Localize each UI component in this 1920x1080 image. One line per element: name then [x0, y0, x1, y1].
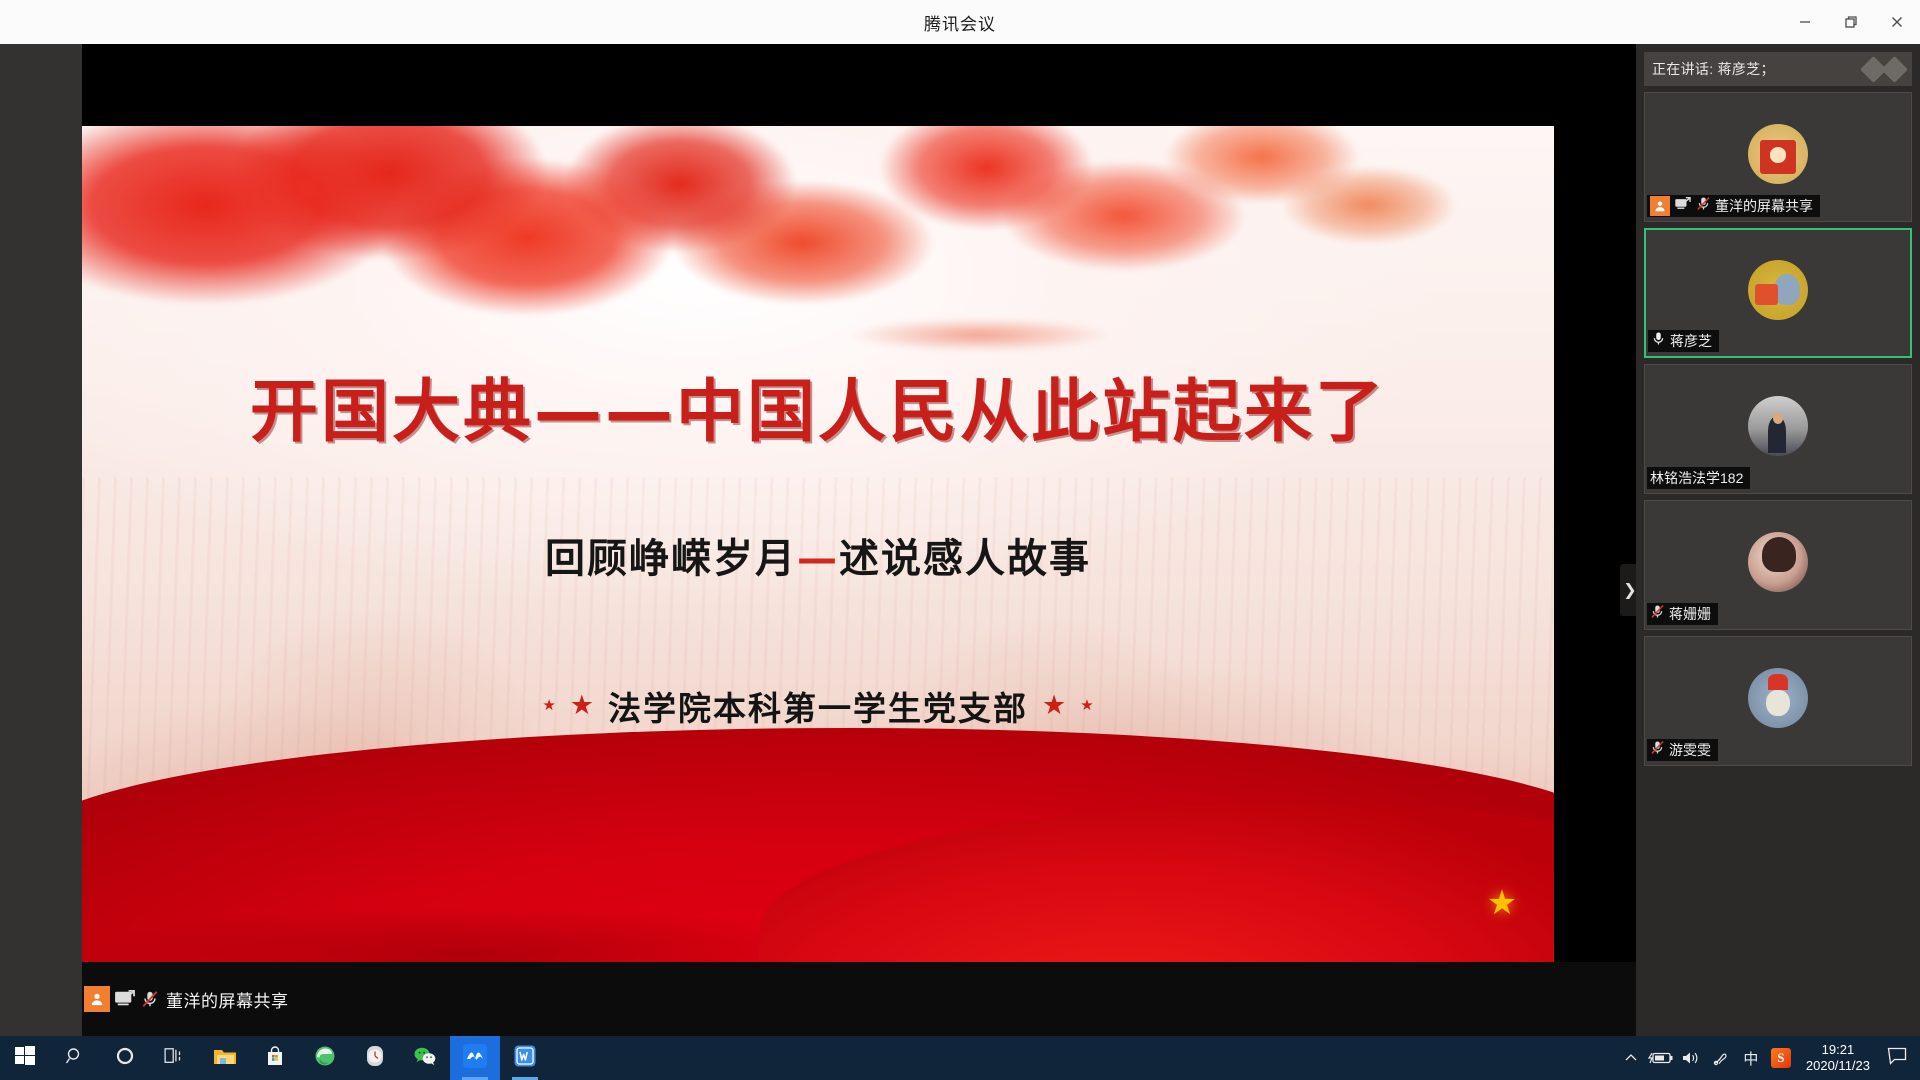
share-owner-label: 董洋的屏幕共享	[166, 987, 289, 1012]
search-icon	[65, 1046, 85, 1071]
task-view-button[interactable]	[150, 1036, 200, 1080]
mic-muted-icon	[1696, 196, 1711, 216]
wps-office[interactable]	[500, 1036, 550, 1080]
participant-tile-list: 董洋的屏幕共享 蒋彦芝 林	[1644, 92, 1916, 772]
screen-share-icon	[113, 988, 137, 1010]
screen-share-icon	[1674, 197, 1692, 216]
cortana-icon	[115, 1046, 135, 1071]
active-speaker-banner: 正在讲话: 蒋彦芝；	[1644, 52, 1912, 86]
star-icon: ★	[1080, 698, 1093, 713]
folder-icon	[213, 1046, 237, 1071]
participant-tile[interactable]: 董洋的屏幕共享	[1644, 92, 1912, 222]
restore-button[interactable]	[1828, 0, 1874, 44]
window-titlebar: 腾讯会议	[0, 0, 1920, 44]
windows-taskbar: 中 S 19:21 2020/11/23	[0, 1036, 1920, 1080]
desktop-root: 腾讯会议	[0, 0, 1920, 1080]
gold-star-icon: ★	[1487, 886, 1517, 920]
mic-on-icon	[1651, 331, 1666, 351]
participant-tile[interactable]: 游雯雯	[1644, 636, 1912, 766]
tencent-meeting-icon	[463, 1044, 487, 1073]
person-icon	[1650, 196, 1670, 216]
wechat-icon	[413, 1046, 437, 1071]
participant-name: 蒋姗姗	[1669, 604, 1711, 624]
wechat[interactable]	[400, 1036, 450, 1080]
ime-indicator[interactable]: 中	[1736, 1036, 1766, 1080]
mic-muted-icon	[1650, 604, 1665, 624]
active-speaker-label: 正在讲话: 蒋彦芝；	[1652, 59, 1775, 79]
star-icon: ★	[570, 692, 594, 719]
window-controls	[1782, 0, 1920, 44]
notification-icon	[1887, 1047, 1907, 1070]
avatar	[1748, 668, 1808, 728]
star-icon: ★	[542, 698, 555, 713]
slide-subtitle-left: 回顾峥嵘岁月	[545, 536, 797, 582]
participant-name: 蒋彦芝	[1670, 331, 1712, 351]
clock-date: 2020/11/23	[1806, 1058, 1870, 1074]
ime-label: 中	[1737, 1048, 1765, 1069]
slide-footer: ★ ★ 法学院本科第一学生党支部 ★ ★	[82, 682, 1554, 730]
participant-tile[interactable]: 蒋姗姗	[1644, 500, 1912, 630]
meeting-window: 开国大典——中国人民从此站起来了 回顾峥嵘岁月—述说感人故事 ★ ★ 法学院本科…	[0, 44, 1920, 1036]
alarms-clock[interactable]	[350, 1036, 400, 1080]
chevron-right-icon: ❯	[1623, 580, 1636, 600]
participant-name: 游雯雯	[1669, 740, 1711, 760]
minimize-button[interactable]	[1782, 0, 1828, 44]
participant-name: 林铭浩法学182	[1650, 468, 1743, 488]
share-owner-tag: 董洋的屏幕共享	[84, 986, 289, 1012]
edge-icon	[314, 1045, 336, 1072]
store-icon	[265, 1046, 285, 1071]
window-title: 腾讯会议	[924, 10, 996, 35]
close-button[interactable]	[1874, 0, 1920, 44]
slide-subtitle: 回顾峥嵘岁月—述说感人故事	[82, 526, 1554, 584]
chevron-up-icon[interactable]	[1616, 1036, 1646, 1080]
participant-namebar: 蒋姗姗	[1647, 603, 1718, 625]
slide-main-title: 开国大典——中国人民从此站起来了	[82, 356, 1554, 455]
avatar	[1748, 396, 1808, 456]
wps-icon	[514, 1045, 536, 1072]
task-view-icon	[164, 1047, 186, 1070]
mic-muted-icon	[1650, 740, 1665, 760]
avatar	[1748, 260, 1808, 320]
system-tray: 中 S 19:21 2020/11/23	[1616, 1036, 1920, 1080]
microsoft-edge[interactable]	[300, 1036, 350, 1080]
participant-tile[interactable]: 蒋彦芝	[1644, 228, 1912, 358]
battery-charging-icon[interactable]	[1646, 1036, 1676, 1080]
participant-name: 董洋的屏幕共享	[1715, 196, 1813, 216]
clock-icon	[364, 1045, 386, 1072]
slide-subtitle-right: 述说感人故事	[839, 536, 1091, 582]
slide-red-cloud-art	[82, 126, 1554, 360]
clock-time: 19:21	[1822, 1042, 1855, 1058]
avatar	[1748, 532, 1808, 592]
avatar	[1748, 124, 1808, 184]
search-button[interactable]	[50, 1036, 100, 1080]
participant-namebar: 游雯雯	[1647, 739, 1718, 761]
taskbar-clock[interactable]: 19:21 2020/11/23	[1796, 1036, 1880, 1080]
speaking-indicator-icon	[1864, 60, 1904, 79]
slide-organization: 法学院本科第一学生党支部	[608, 682, 1028, 730]
sogou-label: S	[1771, 1048, 1791, 1068]
microsoft-store[interactable]	[250, 1036, 300, 1080]
start-button[interactable]	[0, 1036, 50, 1080]
participant-namebar: 蒋彦芝	[1648, 330, 1719, 352]
participants-panel: 正在讲话: 蒋彦芝；	[1636, 44, 1920, 1036]
file-explorer[interactable]	[200, 1036, 250, 1080]
windows-icon	[15, 1046, 35, 1071]
sogou-input-icon[interactable]: S	[1766, 1036, 1796, 1080]
network-sync-icon[interactable]	[1706, 1036, 1736, 1080]
person-icon	[84, 986, 110, 1012]
share-status-strip: 董洋的屏幕共享	[82, 962, 1636, 1036]
volume-icon[interactable]	[1676, 1036, 1706, 1080]
star-icon: ★	[1042, 692, 1066, 719]
tencent-meeting[interactable]	[450, 1036, 500, 1080]
participant-namebar: 林铭浩法学182	[1647, 467, 1750, 489]
participant-tile[interactable]: 林铭浩法学182	[1644, 364, 1912, 494]
participant-namebar: 董洋的屏幕共享	[1647, 195, 1820, 217]
screen-share-stage[interactable]: 开国大典——中国人民从此站起来了 回顾峥嵘岁月—述说感人故事 ★ ★ 法学院本科…	[82, 44, 1636, 1036]
cortana-button[interactable]	[100, 1036, 150, 1080]
slide-cloud-wisp	[847, 318, 1112, 351]
notification-center-button[interactable]	[1880, 1036, 1914, 1080]
slide-subtitle-dash: —	[797, 536, 839, 582]
mic-muted-icon	[139, 988, 161, 1010]
shared-slide: 开国大典——中国人民从此站起来了 回顾峥嵘岁月—述说感人故事 ★ ★ 法学院本科…	[82, 126, 1554, 962]
